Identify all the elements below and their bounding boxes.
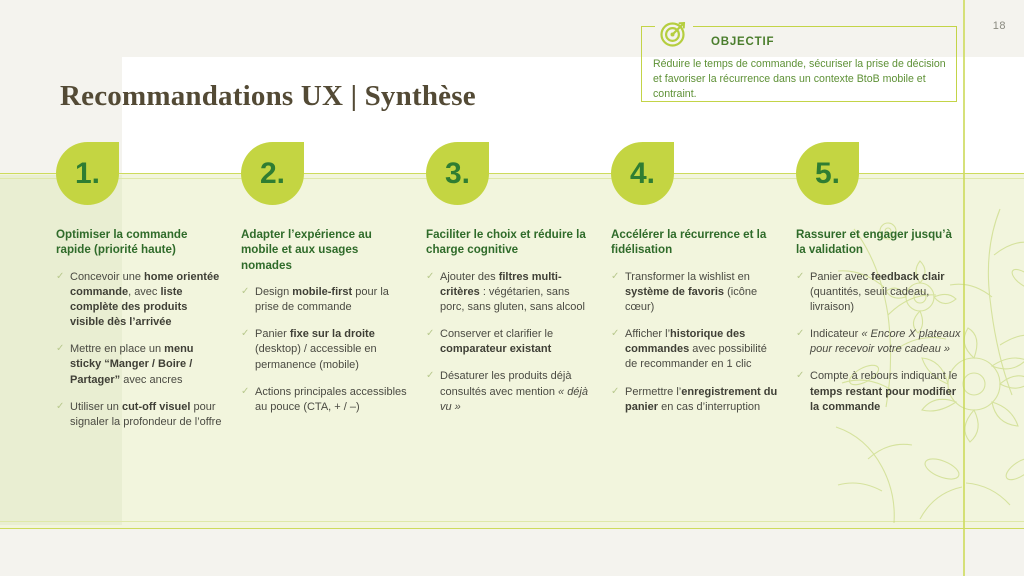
check-icon: ✓ [796, 369, 804, 383]
bullet-item: ✓Actions principales accessibles au pouc… [241, 385, 409, 415]
bullet-text-run: feedback clair [871, 271, 944, 283]
check-icon: ✓ [796, 327, 804, 341]
bullet-item: ✓Permettre l’enregistrement du panier en… [611, 385, 779, 415]
check-icon: ✓ [241, 327, 249, 341]
bullet-text-run: Actions principales accessibles au pouce… [255, 386, 407, 413]
bullet-text-run: Ajouter des [440, 271, 499, 283]
column-points-1: ✓Concevoir une home orientée commande, a… [56, 270, 224, 431]
bullet-text-run: Indicateur [810, 328, 861, 340]
step-badge-1: 1. [56, 142, 119, 205]
column-heading-5: Rassurer et engager jusqu’à la validatio… [796, 227, 964, 258]
bullet-text-run: Transformer la wishlist en [625, 271, 750, 283]
bullet-item: ✓Mettre en place un menu sticky “Manger … [56, 342, 224, 388]
recommendation-columns: 1. Optimiser la commande rapide (priorit… [0, 0, 1024, 576]
bullet-text-run: Utiliser un [70, 401, 122, 413]
bullet-text-run: Panier avec [810, 271, 871, 283]
check-icon: ✓ [426, 270, 434, 284]
bullet-text-run: (desktop) / accessible en permanence (mo… [255, 343, 377, 370]
bullet-item: ✓Ajouter des filtres multi-critères : vé… [426, 270, 594, 316]
recommendation-column-5: 5. Rassurer et engager jusqu’à la valida… [796, 142, 964, 427]
bullet-item: ✓Concevoir une home orientée commande, a… [56, 270, 224, 331]
bullet-text-run: avec ancres [120, 374, 182, 386]
bullet-text-run: temps restant pour modifier la commande [810, 386, 956, 413]
bullet-item: ✓Transformer la wishlist en système de f… [611, 270, 779, 316]
bullet-text-run: système de favoris [625, 286, 724, 298]
check-icon: ✓ [241, 285, 249, 299]
bullet-text-run: Concevoir une [70, 271, 144, 283]
step-badge-4: 4. [611, 142, 674, 205]
check-icon: ✓ [241, 385, 249, 399]
check-icon: ✓ [56, 270, 64, 284]
bullet-text-run: Permettre l’ [625, 386, 681, 398]
bullet-text-run: fixe sur la droite [290, 328, 375, 340]
check-icon: ✓ [56, 342, 64, 356]
bullet-text-run: Compte à rebours indiquant le [810, 370, 957, 382]
column-heading-1: Optimiser la commande rapide (priorité h… [56, 227, 224, 258]
bullet-text-run: Conserver et clarifier le [440, 328, 553, 340]
slide-root: 18 OBJECTIF Réduire le temps de commande… [0, 0, 1024, 576]
recommendation-column-3: 3. Faciliter le choix et réduire la char… [426, 142, 594, 427]
bullet-text-run: Design [255, 286, 292, 298]
check-icon: ✓ [611, 327, 619, 341]
bullet-item: ✓Panier avec feedback clair (quantités, … [796, 270, 964, 316]
bullet-item: ✓Désaturer les produits déjà consultés a… [426, 369, 594, 415]
check-icon: ✓ [796, 270, 804, 284]
bullet-text-run: (quantités, seuil cadeau, livraison) [810, 286, 929, 313]
step-badge-5: 5. [796, 142, 859, 205]
check-icon: ✓ [611, 385, 619, 399]
bullet-text-run: , avec [128, 286, 160, 298]
bullet-text-run: Panier [255, 328, 290, 340]
column-heading-3: Faciliter le choix et réduire la charge … [426, 227, 594, 258]
step-badge-2: 2. [241, 142, 304, 205]
bullet-text-run: en cas d’interruption [658, 401, 760, 413]
recommendation-column-1: 1. Optimiser la commande rapide (priorit… [56, 142, 224, 442]
check-icon: ✓ [426, 369, 434, 383]
step-badge-3: 3. [426, 142, 489, 205]
bullet-text-run: comparateur existant [440, 343, 551, 355]
bullet-item: ✓Indicateur « Encore X plateaux pour rec… [796, 327, 964, 357]
column-heading-4: Accélérer la récurrence et la fidélisati… [611, 227, 779, 258]
check-icon: ✓ [56, 400, 64, 414]
bullet-text-run: Désaturer les produits déjà consultés av… [440, 370, 571, 397]
column-heading-2: Adapter l’expérience au mobile et aux us… [241, 227, 409, 273]
recommendation-column-4: 4. Accélérer la récurrence et la fidélis… [611, 142, 779, 427]
bullet-text-run: cut-off visuel [122, 401, 190, 413]
bullet-item: ✓Utiliser un cut-off visuel pour signale… [56, 400, 224, 430]
column-points-3: ✓Ajouter des filtres multi-critères : vé… [426, 270, 594, 415]
bullet-text-run: mobile-first [292, 286, 352, 298]
column-points-2: ✓Design mobile-first pour la prise de co… [241, 285, 409, 415]
check-icon: ✓ [426, 327, 434, 341]
bullet-item: ✓Compte à rebours indiquant le temps res… [796, 369, 964, 415]
bullet-item: ✓Design mobile-first pour la prise de co… [241, 285, 409, 315]
bullet-item: ✓Conserver et clarifier le comparateur e… [426, 327, 594, 357]
bullet-text-run: Mettre en place un [70, 343, 164, 355]
column-points-4: ✓Transformer la wishlist en système de f… [611, 270, 779, 415]
recommendation-column-2: 2. Adapter l’expérience au mobile et aux… [241, 142, 409, 427]
column-points-5: ✓Panier avec feedback clair (quantités, … [796, 270, 964, 415]
bullet-item: ✓Panier fixe sur la droite (desktop) / a… [241, 327, 409, 373]
check-icon: ✓ [611, 270, 619, 284]
bullet-item: ✓Afficher l’historique des commandes ave… [611, 327, 779, 373]
bullet-text-run: Afficher l’ [625, 328, 670, 340]
